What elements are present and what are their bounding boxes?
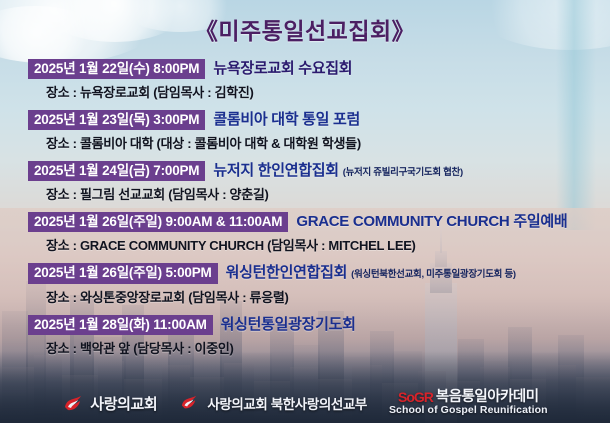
event-venue: 장소 : 백악관 앞 (담당목사 : 이중인): [0, 338, 610, 357]
event-headline: GRACE COMMUNITY CHURCH 주일예배: [296, 210, 567, 231]
event-headline: 워싱턴한인연합집회: [226, 261, 348, 282]
list-item: 2025년 1월 28일(화) 11:00AM 워싱턴통일광장기도회 장소 : …: [0, 313, 610, 357]
flame-icon: [62, 394, 84, 412]
logo-sarang-church: 사랑의교회: [62, 393, 157, 414]
event-datetime-badge: 2025년 1월 26일(주일) 5:00PM: [28, 263, 218, 283]
event-note: (워싱턴북한선교회, 미주통일광장기도회 등): [351, 266, 516, 280]
event-note: (뉴저지 쥬빌리구국기도회 협찬): [343, 164, 463, 178]
flame-icon: [179, 394, 201, 412]
logo-gospel-reunification-academy: SoGR 복음통일아카데미 School of Gospel Reunifica…: [389, 390, 548, 417]
event-datetime-badge: 2025년 1월 26일(주일) 9:00AM & 11:00AM: [28, 212, 288, 232]
list-item: 2025년 1월 24일(금) 7:00PM 뉴저지 한인연합집회 (뉴저지 쥬…: [0, 159, 610, 203]
event-datetime-badge: 2025년 1월 24일(금) 7:00PM: [28, 161, 205, 181]
event-poster: 《미주통일선교집회》 2025년 1월 22일(수) 8:00PM 뉴욕장로교회…: [0, 0, 610, 423]
event-headline: 워싱턴통일광장기도회: [221, 313, 356, 334]
logo-sarang-nk-mission: 사랑의교회 북한사랑의선교부: [179, 393, 367, 413]
event-venue: 장소 : 뉴욕장로교회 (담임목사 : 김학진): [0, 82, 610, 101]
logo-label: 사랑의교회: [90, 393, 157, 414]
event-headline: 뉴욕장로교회 수요집회: [213, 57, 352, 78]
footer-logos: 사랑의교회 사랑의교회 북한사랑의선교부 SoGR 복음통일아카데미 Schoo…: [0, 390, 610, 417]
list-item: 2025년 1월 22일(수) 8:00PM 뉴욕장로교회 수요집회 장소 : …: [0, 57, 610, 101]
event-datetime-badge: 2025년 1월 28일(화) 11:00AM: [28, 315, 213, 335]
list-item: 2025년 1월 23일(목) 3:00PM 콜롬비아 대학 통일 포럼 장소 …: [0, 108, 610, 152]
event-headline: 콜롬비아 대학 통일 포럼: [213, 108, 360, 129]
event-headline: 뉴저지 한인연합집회: [213, 159, 338, 180]
event-venue: 장소 : 와싱톤중앙장로교회 (담임목사 : 류응렬): [0, 287, 610, 306]
event-venue: 장소 : GRACE COMMUNITY CHURCH (담임목사 : MITC…: [0, 235, 610, 254]
list-item: 2025년 1월 26일(주일) 5:00PM 워싱턴한인연합집회 (워싱턴북한…: [0, 261, 610, 305]
event-datetime-badge: 2025년 1월 22일(수) 8:00PM: [28, 59, 205, 79]
sogr-mark-icon: SoGR: [398, 390, 433, 405]
event-venue: 장소 : 필그림 선교교회 (담임목사 : 양춘길): [0, 184, 610, 203]
event-venue: 장소 : 콜롬비아 대학 (대상 : 콜롬비아 대학 & 대학원 학생들): [0, 133, 610, 152]
list-item: 2025년 1월 26일(주일) 9:00AM & 11:00AM GRACE …: [0, 210, 610, 254]
event-datetime-badge: 2025년 1월 23일(목) 3:00PM: [28, 110, 205, 130]
logo-label: 사랑의교회 북한사랑의선교부: [207, 393, 367, 413]
event-list: 2025년 1월 22일(수) 8:00PM 뉴욕장로교회 수요집회 장소 : …: [0, 57, 610, 357]
academy-name-en: School of Gospel Reunification: [389, 405, 548, 417]
page-title: 《미주통일선교집회》: [0, 12, 610, 46]
